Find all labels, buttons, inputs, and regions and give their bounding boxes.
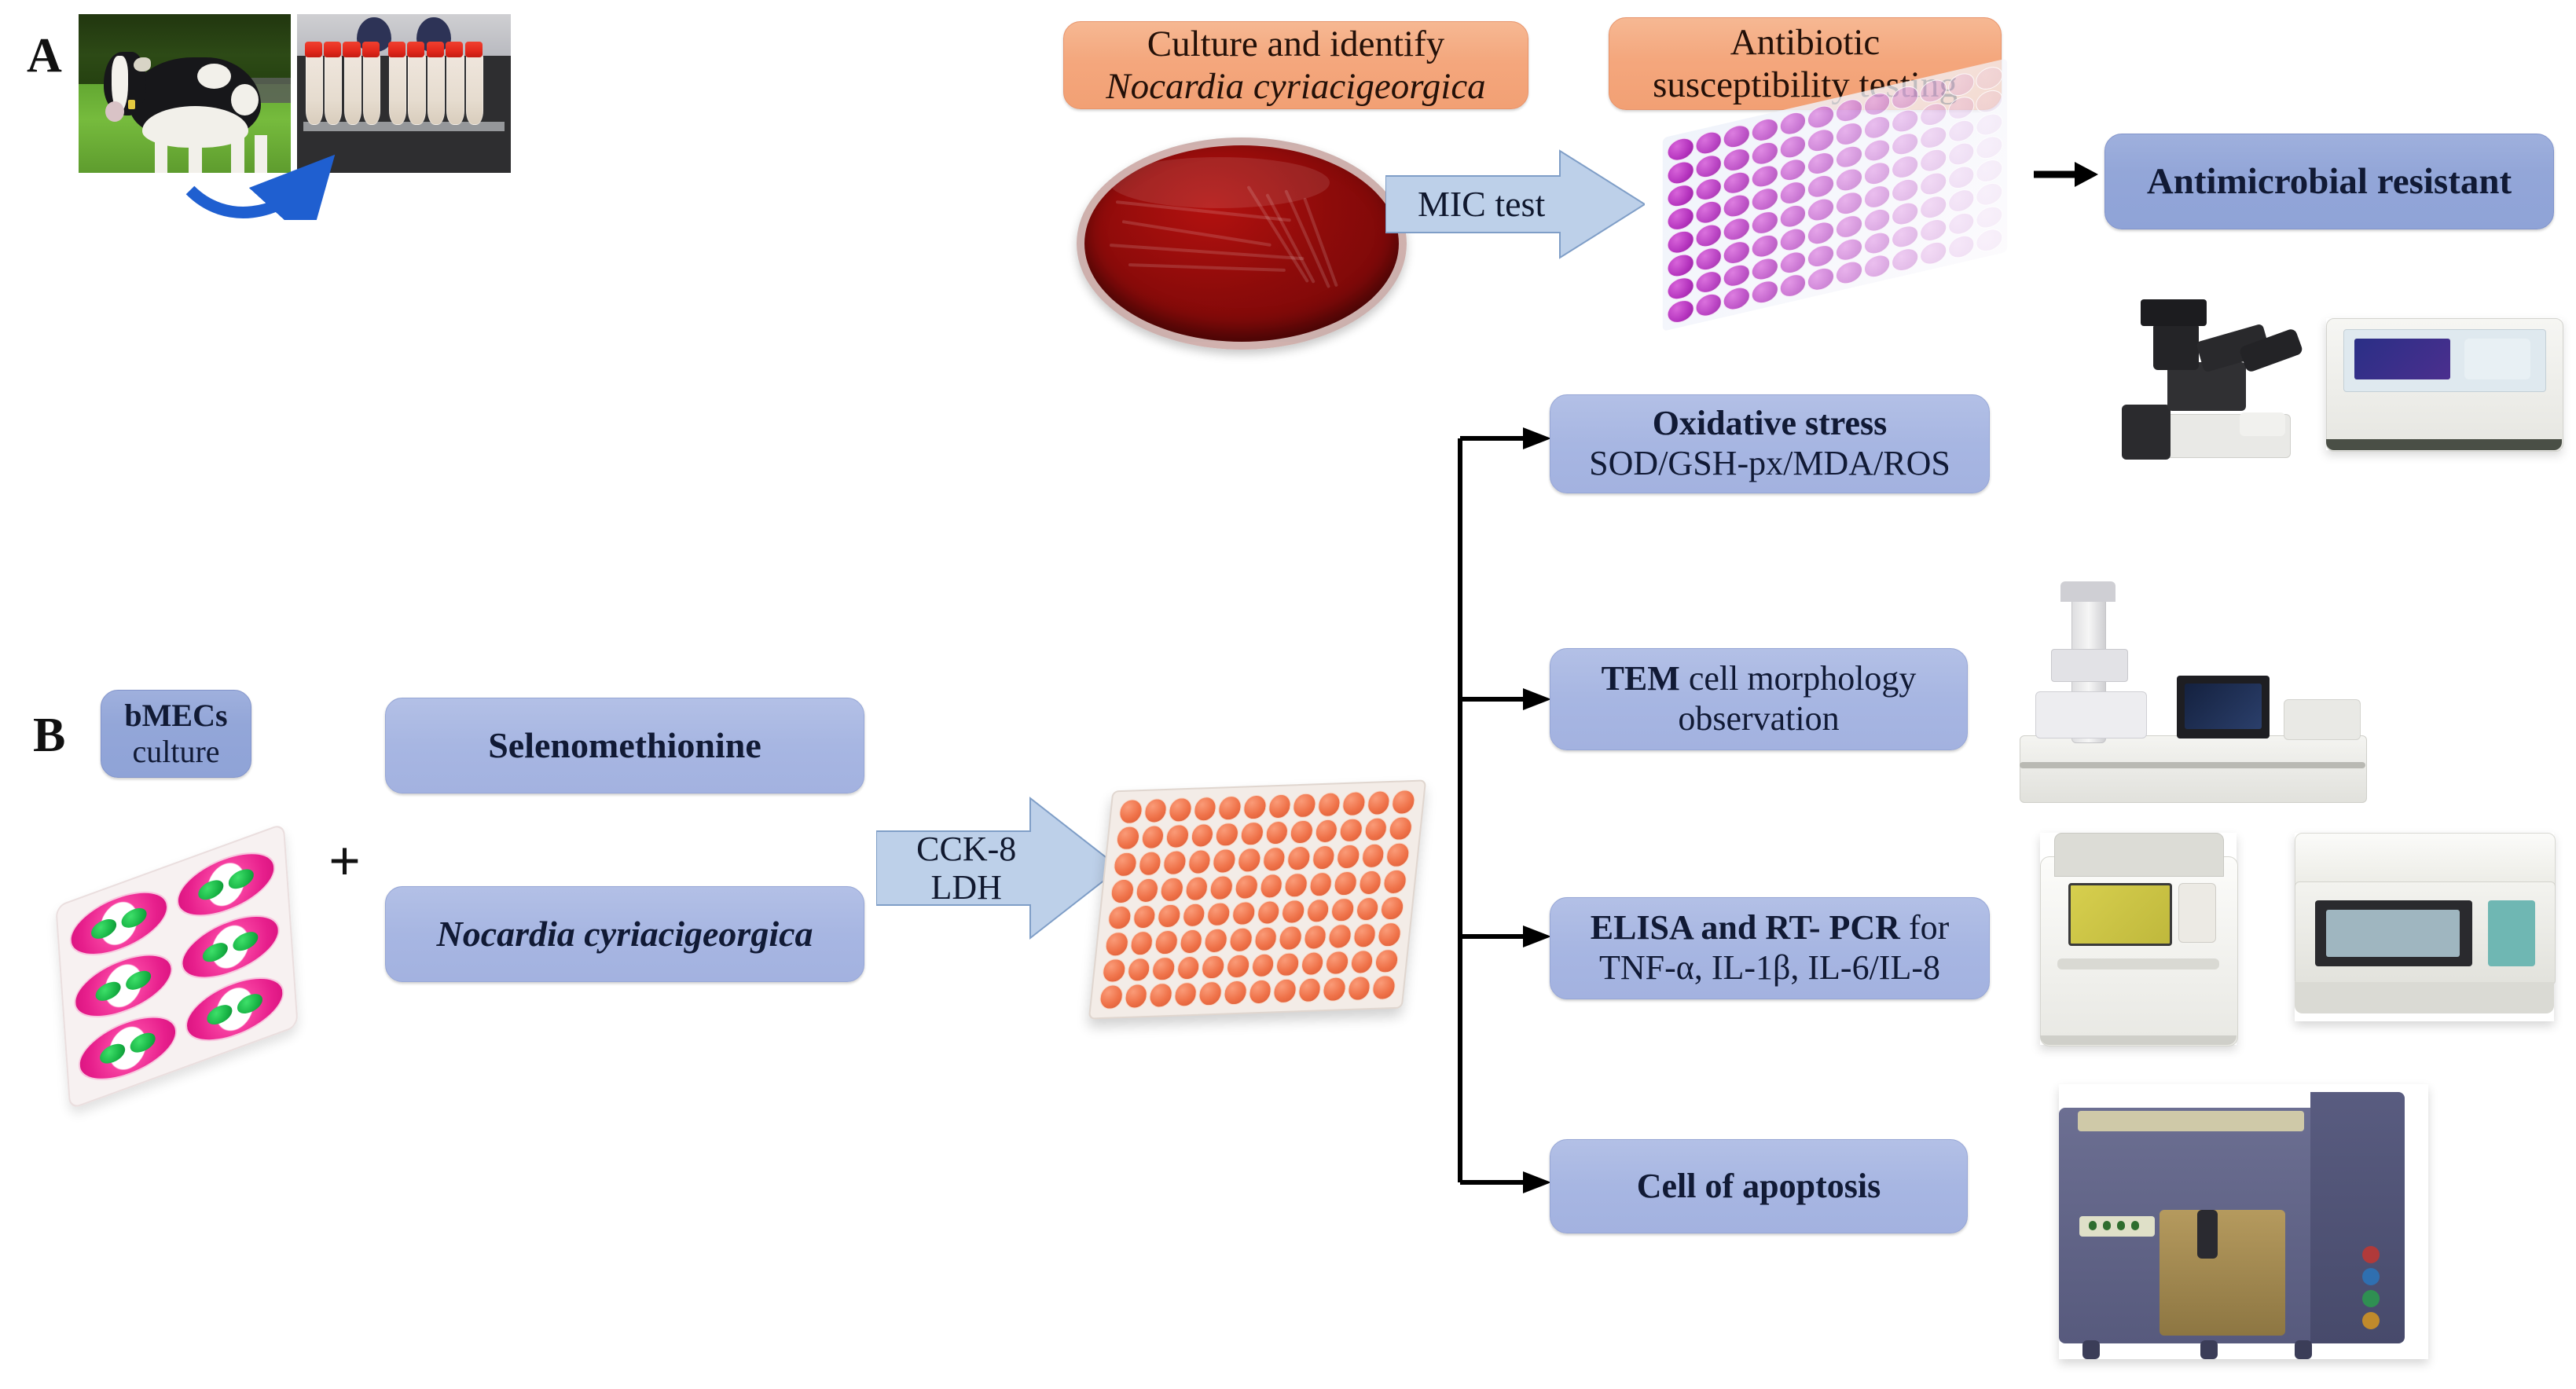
mic-well: [1864, 90, 1891, 118]
culture-microplate-image: [1088, 779, 1426, 1019]
plus-symbol: +: [328, 829, 361, 894]
culture-well: [1187, 849, 1213, 874]
mic-well: [1948, 117, 1975, 145]
mic-well: [1807, 219, 1834, 247]
culture-identify-line2: Nocardia cyriacigeorgica: [1106, 65, 1485, 108]
mic-well: [1836, 143, 1862, 170]
culture-well: [1102, 958, 1127, 984]
mic-well: [1920, 170, 1947, 197]
culture-well: [1206, 902, 1231, 927]
culture-well: [1341, 791, 1367, 816]
culture-well: [1256, 900, 1281, 925]
culture-well: [1225, 954, 1250, 979]
mic-well: [1892, 177, 1918, 204]
mic-well: [1695, 245, 1722, 273]
microplate-reader-image: [2326, 318, 2562, 450]
tem-line1: TEM cell morphology: [1602, 659, 1917, 699]
culture-well: [1151, 956, 1176, 981]
culture-well: [1278, 925, 1303, 951]
culture-well: [1336, 845, 1361, 870]
culture-well: [1162, 850, 1187, 875]
mic-well: [1864, 229, 1891, 257]
panel-b-letter: B: [33, 711, 65, 760]
culture-well: [1179, 929, 1204, 955]
culture-well: [1330, 897, 1356, 922]
tem-line1-rest: cell morphology: [1680, 659, 1917, 698]
culture-well: [1281, 899, 1306, 924]
resistance-result-arrow: [2032, 157, 2098, 192]
culture-well: [1382, 869, 1407, 894]
mic-well: [1836, 213, 1862, 240]
mic-well: [1976, 64, 2003, 92]
mic-well: [1864, 206, 1891, 233]
mic-well: [1920, 123, 1947, 151]
mic-well: [1864, 113, 1891, 141]
culture-well: [1104, 932, 1129, 957]
elisa-line1-rest: for: [1900, 908, 1949, 947]
mic-well: [1920, 193, 1947, 221]
culture-well: [1168, 797, 1193, 823]
culture-well: [1272, 979, 1297, 1004]
mic-well: [1668, 159, 1694, 186]
culture-well: [1314, 819, 1339, 844]
cell-apoptosis-box[interactable]: Cell of apoptosis: [1550, 1139, 1968, 1233]
culture-well: [1201, 955, 1226, 980]
mic-well: [1780, 179, 1807, 207]
mic-well: [1948, 141, 1975, 168]
mic-test-arrow[interactable]: MIC test: [1385, 149, 1645, 259]
culture-well: [1228, 927, 1253, 952]
culture-well: [1124, 984, 1149, 1009]
culture-well: [1371, 975, 1396, 1000]
culture-well: [1176, 955, 1201, 980]
mic-well: [1752, 278, 1778, 306]
mic-well: [1668, 228, 1694, 255]
culture-well: [1275, 952, 1301, 977]
selenomethionine-label: Selenomethionine: [488, 725, 761, 767]
mic-well: [1807, 196, 1834, 223]
tem-morphology-box[interactable]: TEM cell morphology observation: [1550, 648, 1968, 750]
culture-well: [1165, 824, 1190, 849]
selenomethionine-box[interactable]: Selenomethionine: [385, 698, 864, 793]
mic-well: [1836, 97, 1862, 124]
culture-well: [1190, 823, 1215, 848]
culture-well: [1360, 844, 1385, 869]
mic-well: [1780, 133, 1807, 160]
culture-well: [1264, 820, 1290, 845]
culture-well: [1316, 792, 1341, 817]
culture-well: [1184, 876, 1209, 901]
tem-line1-bold: TEM: [1602, 659, 1680, 698]
fanout-connector: [1454, 409, 1556, 1210]
mic-well: [1780, 272, 1807, 299]
mic-well: [1920, 101, 1947, 128]
culture-well: [1217, 796, 1242, 821]
mic-well: [1976, 180, 2003, 207]
mic-well: [1668, 275, 1694, 302]
culture-well: [1132, 904, 1157, 929]
culture-well: [1374, 948, 1400, 973]
mic-well: [1864, 159, 1891, 187]
culture-identify-box[interactable]: Culture and identify Nocardia cyriacigeo…: [1063, 21, 1528, 109]
mic-well: [1976, 226, 2003, 254]
mic-well: [1723, 285, 1750, 313]
culture-identify-line1: Culture and identify: [1147, 23, 1445, 65]
mic-well: [1780, 225, 1807, 253]
mic-well: [1864, 183, 1891, 211]
mic-well: [1836, 259, 1862, 287]
cow-to-tubes-arrow: [179, 134, 352, 220]
mic-well: [1976, 203, 2003, 231]
culture-well: [1157, 903, 1182, 929]
culture-well: [1303, 925, 1328, 950]
culture-well: [1358, 870, 1383, 895]
culture-well: [1118, 799, 1143, 824]
culture-well: [1215, 822, 1240, 847]
mic-well: [1668, 298, 1694, 325]
mic-well: [1723, 145, 1750, 173]
mic-well: [1695, 129, 1722, 156]
culture-well: [1355, 896, 1380, 922]
culture-well: [1297, 978, 1323, 1003]
mic-well: [1976, 134, 2003, 161]
culture-well: [1325, 951, 1350, 976]
culture-well: [1352, 923, 1378, 948]
mic-well: [1864, 137, 1891, 164]
culture-well: [1389, 816, 1414, 841]
ldh-label: LDH: [930, 868, 1001, 907]
mic-well: [1780, 156, 1807, 183]
six-well-plate-cells-image: [55, 823, 298, 1109]
elisa-line2: TNF-α, IL-1β, IL-6/IL-8: [1599, 948, 1940, 988]
culture-well: [1242, 794, 1268, 819]
culture-well: [1391, 790, 1416, 815]
culture-well: [1305, 898, 1330, 923]
mic-well: [1752, 163, 1778, 190]
cck8-ldh-arrow[interactable]: CCK-8 LDH: [876, 793, 1120, 943]
mic-well: [1752, 232, 1778, 259]
culture-well: [1338, 818, 1363, 843]
mic-well: [1976, 157, 2003, 185]
bmecs-culture-line2: culture: [132, 734, 219, 770]
mic-well: [1780, 249, 1807, 277]
oxidative-stress-box[interactable]: Oxidative stress SOD/GSH-px/MDA/ROS: [1550, 394, 1990, 493]
mic-well: [1892, 153, 1918, 181]
culture-well: [1380, 896, 1405, 921]
culture-well: [1261, 847, 1286, 872]
cck8-label: CCK-8: [916, 830, 1016, 868]
mic-well: [1807, 149, 1834, 177]
culture-well: [1209, 875, 1235, 900]
elisa-line1-bold: ELISA and RT- PCR: [1591, 908, 1900, 947]
mic-well: [1920, 147, 1947, 174]
mic-well: [1892, 83, 1918, 111]
culture-well: [1308, 871, 1334, 896]
antimicrobial-resistant-box[interactable]: Antimicrobial resistant: [2104, 134, 2554, 229]
mic-well: [1836, 236, 1862, 263]
mic-well: [1752, 139, 1778, 167]
culture-well: [1377, 922, 1402, 947]
culture-well: [1283, 873, 1308, 898]
mic-well: [1892, 246, 1918, 273]
figure-canvas: A: [0, 0, 2576, 1389]
culture-well: [1247, 980, 1272, 1005]
mic-well: [1948, 233, 1975, 261]
culture-well: [1267, 793, 1292, 819]
culture-well: [1231, 901, 1257, 926]
culture-well: [1099, 984, 1124, 1010]
mic-well: [1752, 116, 1778, 144]
culture-well: [1129, 931, 1154, 956]
mic-well: [1723, 239, 1750, 266]
mic-well: [1948, 210, 1975, 237]
mic-well: [1976, 111, 2003, 138]
elisa-rtpcr-box[interactable]: ELISA and RT- PCR for TNF-α, IL-1β, IL-6…: [1550, 897, 1990, 999]
mic-well: [1668, 251, 1694, 279]
mic-well: [1668, 135, 1694, 163]
mic-well: [1836, 189, 1862, 217]
cell-apoptosis-label: Cell of apoptosis: [1637, 1167, 1881, 1207]
mic-well: [1752, 255, 1778, 283]
culture-well: [1322, 977, 1347, 1002]
mic-well: [1948, 71, 1975, 98]
mic-well: [1752, 185, 1778, 213]
flow-cytometer-image: [2059, 1084, 2428, 1359]
mic-well: [1807, 103, 1834, 130]
mic-well: [1668, 205, 1694, 233]
elisa-plate-reader-image: [2295, 833, 2554, 1021]
mic-well: [1695, 268, 1722, 295]
mic-well: [1807, 173, 1834, 200]
mic-well: [1807, 266, 1834, 293]
culture-well: [1135, 878, 1160, 903]
mic-well: [1723, 262, 1750, 289]
mic-well: [1752, 209, 1778, 236]
mic-well: [1892, 130, 1918, 157]
mic-well: [1723, 123, 1750, 150]
culture-well: [1198, 981, 1223, 1006]
culture-well: [1234, 874, 1259, 900]
mic-well: [1695, 222, 1722, 249]
transmission-electron-microscope-image: [2020, 581, 2365, 809]
mic-well: [1723, 169, 1750, 196]
culture-well: [1154, 930, 1179, 955]
culture-well: [1286, 846, 1312, 871]
mic-well: [1920, 240, 1947, 267]
panel-a-letter: A: [27, 31, 62, 80]
culture-well: [1143, 798, 1168, 823]
culture-well: [1212, 848, 1237, 874]
blood-agar-plate-photo: [1077, 137, 1407, 350]
culture-well: [1347, 976, 1372, 1001]
mic-well: [1920, 216, 1947, 244]
mic-well: [1836, 119, 1862, 147]
culture-well: [1159, 877, 1184, 902]
culture-well: [1253, 926, 1279, 951]
culture-well: [1333, 870, 1358, 896]
culture-well: [1137, 851, 1162, 876]
culture-well: [1140, 825, 1165, 850]
culture-well: [1239, 821, 1264, 846]
mic-well: [1668, 181, 1694, 209]
mic-well: [1892, 223, 1918, 251]
mic-well: [1780, 109, 1807, 137]
culture-well: [1311, 845, 1336, 870]
culture-well: [1237, 848, 1262, 873]
mic-well: [1948, 187, 1975, 214]
mic-well: [1780, 203, 1807, 230]
antibiotic-susceptibility-line1: Antibiotic: [1730, 21, 1881, 64]
mic-well: [1807, 242, 1834, 269]
culture-well: [1289, 819, 1314, 845]
culture-well: [1300, 951, 1325, 977]
mic-well: [1695, 152, 1722, 180]
culture-well: [1385, 842, 1411, 867]
mic-well: [1807, 126, 1834, 154]
culture-well: [1193, 797, 1218, 822]
culture-well: [1250, 953, 1275, 978]
culture-well: [1292, 793, 1317, 818]
mic-test-label: MIC test: [1418, 184, 1545, 225]
culture-well: [1259, 874, 1284, 899]
mic-well: [1948, 93, 1975, 121]
culture-well: [1223, 980, 1248, 1006]
realtime-pcr-thermocycler-image: [2040, 833, 2237, 1045]
elisa-line1: ELISA and RT- PCR for: [1591, 908, 1950, 948]
mic-well: [1976, 87, 2003, 115]
culture-well: [1173, 982, 1198, 1007]
mic-well: [1723, 215, 1750, 243]
culture-well: [1107, 905, 1132, 930]
bmecs-culture-line1: bMECs: [124, 698, 227, 734]
culture-well: [1181, 903, 1206, 928]
mic-well: [1948, 163, 1975, 191]
antimicrobial-resistant-label: Antimicrobial resistant: [2147, 160, 2512, 203]
mic-well: [1864, 252, 1891, 280]
inverted-fluorescence-microscope-image: [2122, 287, 2318, 460]
culture-well: [1327, 924, 1352, 949]
culture-well: [1148, 983, 1173, 1008]
nocardia-box[interactable]: Nocardia cyriacigeorgica: [385, 886, 864, 982]
mic-well: [1892, 107, 1918, 134]
culture-well: [1367, 790, 1392, 815]
mic-well: [1892, 200, 1918, 227]
bmecs-culture-box[interactable]: bMECs culture: [101, 690, 251, 778]
culture-well: [1126, 958, 1151, 983]
mic-well: [1695, 199, 1722, 226]
culture-well: [1363, 817, 1389, 842]
tem-line2: observation: [1678, 699, 1839, 739]
oxidative-stress-line1: Oxidative stress: [1653, 404, 1888, 444]
mic-well: [1723, 192, 1750, 219]
nocardia-label: Nocardia cyriacigeorgica: [436, 914, 813, 955]
culture-well: [1203, 928, 1228, 953]
mic-well: [1836, 166, 1862, 193]
mic-well: [1695, 175, 1722, 203]
oxidative-stress-line2: SOD/GSH-px/MDA/ROS: [1589, 444, 1950, 484]
mic-well: [1920, 77, 1947, 104]
culture-well: [1349, 950, 1374, 975]
mic-well: [1695, 291, 1722, 319]
